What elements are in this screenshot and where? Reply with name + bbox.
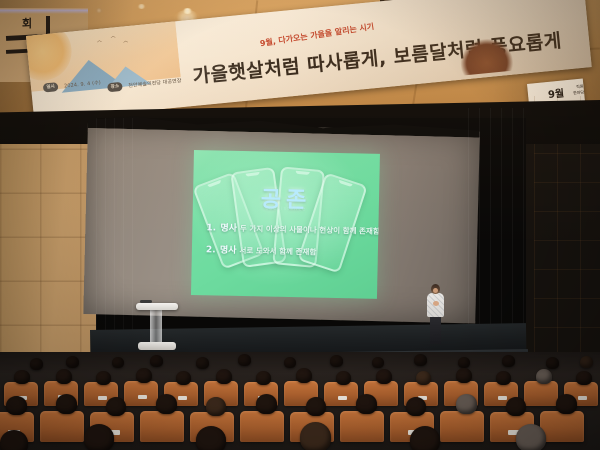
sign-glyph: 회 (22, 18, 32, 29)
seat-number-tag (338, 396, 347, 400)
auditorium-photo: 회 ︿ ︿ ︿ 일시 2024. 9. 4 (수) 장소 천안예술의전당 대공연… (0, 0, 600, 450)
audience-head (306, 397, 326, 416)
projected-slide: 공존 coexistence 1. 명사 두 가지 이상의 사물이나 현상이 함… (191, 150, 380, 299)
audience-head-foreground (0, 430, 28, 450)
auditorium-seat (324, 382, 358, 406)
audience-head (106, 397, 126, 416)
microphone-icon (140, 300, 152, 303)
audience-head (456, 394, 477, 414)
lectern-stem (150, 309, 162, 344)
seat-number-tag (578, 396, 587, 400)
auditorium-seat (524, 381, 558, 406)
auditorium-seat (40, 411, 84, 442)
audience-head (556, 394, 577, 414)
auditorium-seat (124, 381, 158, 406)
audience-head-foreground (300, 422, 331, 450)
seat-number-tag (98, 396, 107, 400)
seat-number-tag (178, 396, 187, 400)
bullet-text: 서로 도와서 함께 존재함 (239, 245, 316, 258)
bullet-number: 2. (206, 245, 220, 255)
slide-bullet-list: 1. 명사 두 가지 이상의 사물이나 현상이 함께 존재함 2. 명사 서로 … (206, 220, 371, 267)
bullet-pos: 명사 (220, 243, 237, 256)
seat-number-tag (138, 395, 147, 399)
bullet-pos: 명사 (220, 221, 237, 234)
audience-head (406, 397, 426, 416)
auditorium-seat (440, 411, 484, 442)
audience-head-foreground (516, 424, 546, 450)
bullet-text: 두 가지 이상의 사물이나 현상이 함께 존재함 (240, 223, 380, 237)
audience-head (56, 394, 77, 414)
slide-bullet: 1. 명사 두 가지 이상의 사물이나 현상이 함께 존재함 (206, 220, 370, 236)
audience-head (256, 394, 277, 414)
speaker-hands (433, 301, 439, 306)
audience-head-foreground (84, 424, 114, 450)
bullet-number: 1. (206, 223, 220, 233)
audience-head-foreground (410, 426, 440, 450)
audience-head (356, 394, 377, 414)
speaker-legs (430, 316, 441, 344)
lectern-top (136, 303, 178, 310)
audience-head (156, 394, 177, 414)
audience-shading (0, 352, 600, 374)
audience-head (506, 397, 526, 416)
audience-head (6, 396, 27, 415)
audience-head (206, 397, 226, 416)
auditorium-seat (140, 411, 184, 442)
auditorium-seat (240, 411, 284, 442)
speaker-face (433, 288, 438, 293)
auditorium-seat (540, 411, 584, 442)
lectern-base (138, 342, 176, 350)
slide-bullet: 2. 명사 서로 도와서 함께 존재함 (206, 242, 370, 258)
auditorium-seat (340, 411, 384, 442)
audience-head-foreground (196, 426, 226, 450)
seat-number-tag (498, 396, 507, 400)
audience-seating (0, 352, 600, 450)
